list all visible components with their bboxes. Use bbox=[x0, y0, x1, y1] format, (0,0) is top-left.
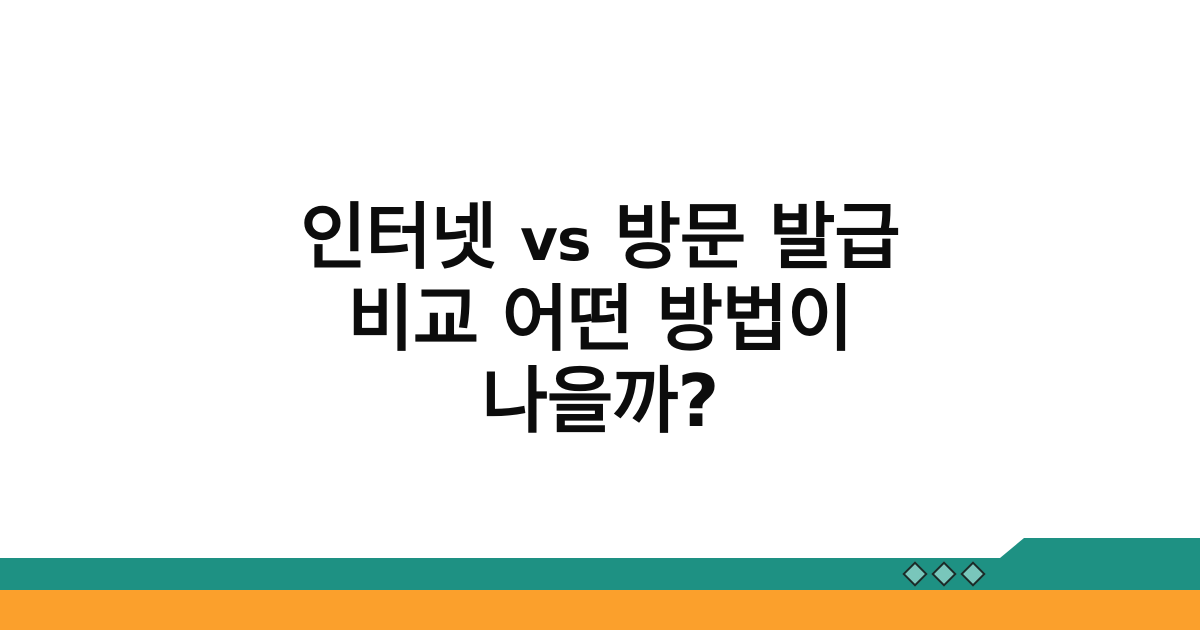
page-title: 인터넷 vs 방문 발급 비교 어떤 방법이 나을까? bbox=[0, 196, 1200, 442]
title-line-2: 비교 어떤 방법이 bbox=[0, 278, 1200, 360]
diamond-icon bbox=[902, 561, 927, 586]
title-line-1: 인터넷 vs 방문 발급 bbox=[0, 196, 1200, 278]
diamond-accent-group bbox=[906, 562, 996, 586]
orange-band bbox=[0, 590, 1200, 630]
title-line-1-pre: 인터넷 bbox=[300, 195, 520, 279]
title-line-3: 나을까? bbox=[0, 360, 1200, 442]
diamond-icon bbox=[931, 561, 956, 586]
title-line-1-post: 방문 발급 bbox=[591, 195, 900, 279]
teal-band bbox=[0, 534, 1200, 590]
diamond-icon bbox=[960, 561, 985, 586]
thumbnail-canvas: 인터넷 vs 방문 발급 비교 어떤 방법이 나을까? bbox=[0, 0, 1200, 630]
title-line-1-latin: vs bbox=[520, 206, 590, 274]
